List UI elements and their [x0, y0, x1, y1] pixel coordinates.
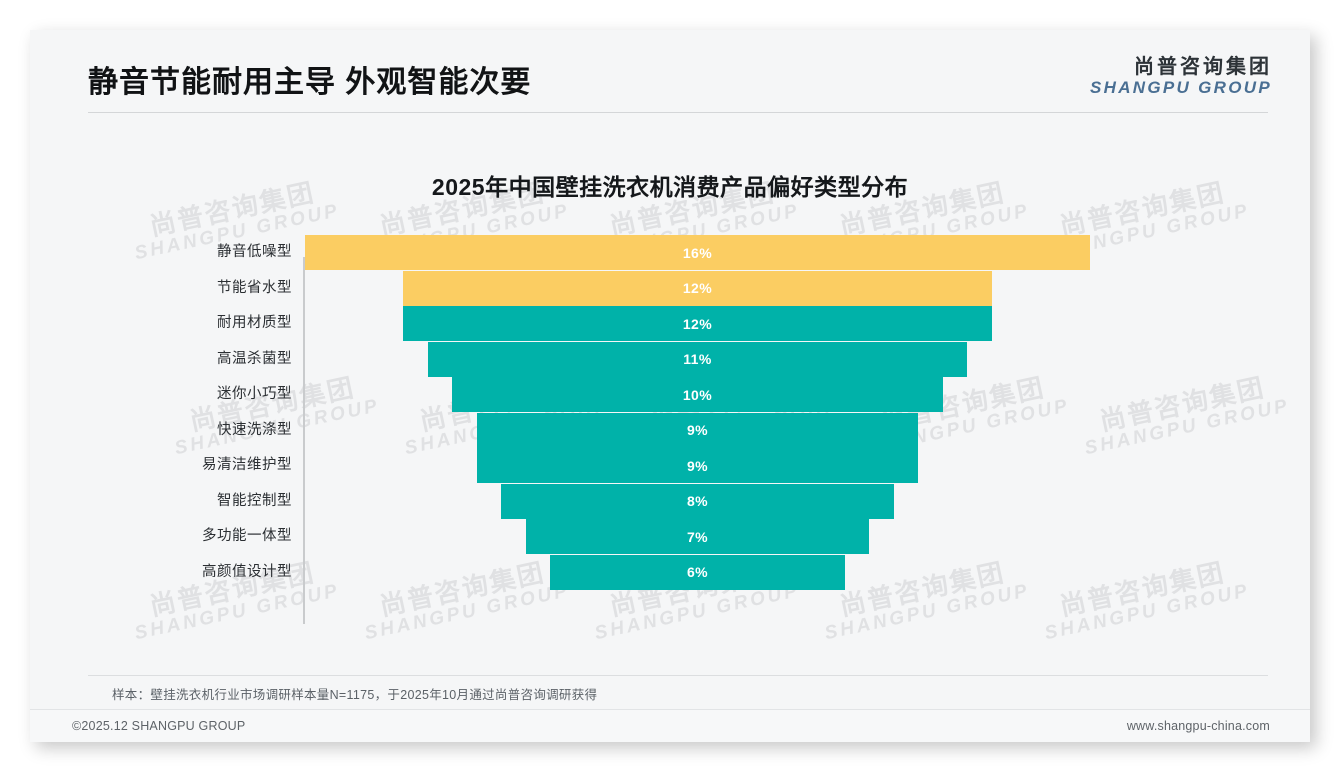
chart-title: 2025年中国壁挂洗衣机消费产品偏好类型分布	[30, 168, 1310, 202]
bar-row[interactable]: 高颜值设计型6%	[30, 555, 1310, 590]
bar-segment[interactable]: 8%	[501, 484, 894, 519]
page-title: 静音节能耐用主导 外观智能次要	[88, 57, 531, 101]
footer-copyright: ©2025.12 SHANGPU GROUP	[72, 719, 245, 733]
bar-category-label: 智能控制型	[30, 484, 292, 519]
bar-row[interactable]: 多功能一体型7%	[30, 519, 1310, 554]
bar-track: 11%	[305, 342, 1310, 377]
bar-value-label: 9%	[687, 422, 708, 438]
bar-track: 12%	[305, 306, 1310, 341]
bar-track: 12%	[305, 271, 1310, 306]
bar-segment[interactable]: 9%	[477, 413, 919, 448]
slide-canvas: 尚普咨询集团SHANGPU GROUP尚普咨询集团SHANGPU GROUP尚普…	[30, 30, 1310, 742]
bar-value-label: 11%	[683, 351, 711, 367]
header-divider	[88, 112, 1268, 113]
brand-logo-en: SHANGPU GROUP	[1090, 78, 1272, 97]
bar-category-label: 易清洁维护型	[30, 448, 292, 483]
bar-category-label: 耐用材质型	[30, 306, 292, 341]
bar-value-label: 7%	[687, 529, 708, 545]
bar-track: 9%	[305, 448, 1310, 483]
bar-category-label: 迷你小巧型	[30, 377, 292, 412]
bar-value-label: 8%	[687, 493, 708, 509]
bar-row[interactable]: 迷你小巧型10%	[30, 377, 1310, 412]
slide-header: 静音节能耐用主导 外观智能次要 尚普咨询集团 SHANGPU GROUP	[30, 30, 1310, 110]
bar-value-label: 10%	[683, 387, 712, 403]
bar-row[interactable]: 智能控制型8%	[30, 484, 1310, 519]
slide-footer: ©2025.12 SHANGPU GROUP www.shangpu-china…	[30, 710, 1310, 742]
bar-track: 9%	[305, 413, 1310, 448]
bar-category-label: 静音低噪型	[30, 235, 292, 270]
bar-segment[interactable]: 12%	[403, 306, 992, 341]
bar-list: 静音低噪型16%节能省水型12%耐用材质型12%高温杀菌型11%迷你小巧型10%…	[30, 235, 1310, 590]
brand-logo-cn: 尚普咨询集团	[1090, 56, 1272, 78]
bar-segment[interactable]: 11%	[428, 342, 968, 377]
bar-track: 8%	[305, 484, 1310, 519]
bar-segment[interactable]: 16%	[305, 235, 1090, 270]
bar-category-label: 高颜值设计型	[30, 555, 292, 590]
bar-category-label: 高温杀菌型	[30, 342, 292, 377]
bar-track: 7%	[305, 519, 1310, 554]
funnel-bar-chart: 静音低噪型16%节能省水型12%耐用材质型12%高温杀菌型11%迷你小巧型10%…	[30, 235, 1310, 635]
bar-category-label: 多功能一体型	[30, 519, 292, 554]
bar-track: 16%	[305, 235, 1310, 270]
bar-segment[interactable]: 6%	[550, 555, 844, 590]
bar-row[interactable]: 耐用材质型12%	[30, 306, 1310, 341]
note-divider	[88, 675, 1268, 676]
bar-row[interactable]: 高温杀菌型11%	[30, 342, 1310, 377]
bar-category-label: 节能省水型	[30, 271, 292, 306]
footer-website[interactable]: www.shangpu-china.com	[1127, 719, 1270, 733]
bar-segment[interactable]: 12%	[403, 271, 992, 306]
bar-category-label: 快速洗涤型	[30, 413, 292, 448]
bar-segment[interactable]: 10%	[452, 377, 943, 412]
source-note: 样本：壁挂洗衣机行业市场调研样本量N=1175，于2025年10月通过尚普咨询调…	[112, 684, 597, 703]
bar-row[interactable]: 快速洗涤型9%	[30, 413, 1310, 448]
bar-value-label: 16%	[683, 245, 712, 261]
bar-segment[interactable]: 9%	[477, 448, 919, 483]
bar-segment[interactable]: 7%	[526, 519, 869, 554]
bar-value-label: 12%	[683, 280, 712, 296]
bar-row[interactable]: 节能省水型12%	[30, 271, 1310, 306]
bar-track: 6%	[305, 555, 1310, 590]
bar-value-label: 9%	[687, 458, 708, 474]
bar-value-label: 6%	[687, 564, 708, 580]
brand-logo: 尚普咨询集团 SHANGPU GROUP	[1090, 56, 1272, 97]
bar-row[interactable]: 静音低噪型16%	[30, 235, 1310, 270]
bar-value-label: 12%	[683, 316, 712, 332]
bar-row[interactable]: 易清洁维护型9%	[30, 448, 1310, 483]
bar-track: 10%	[305, 377, 1310, 412]
